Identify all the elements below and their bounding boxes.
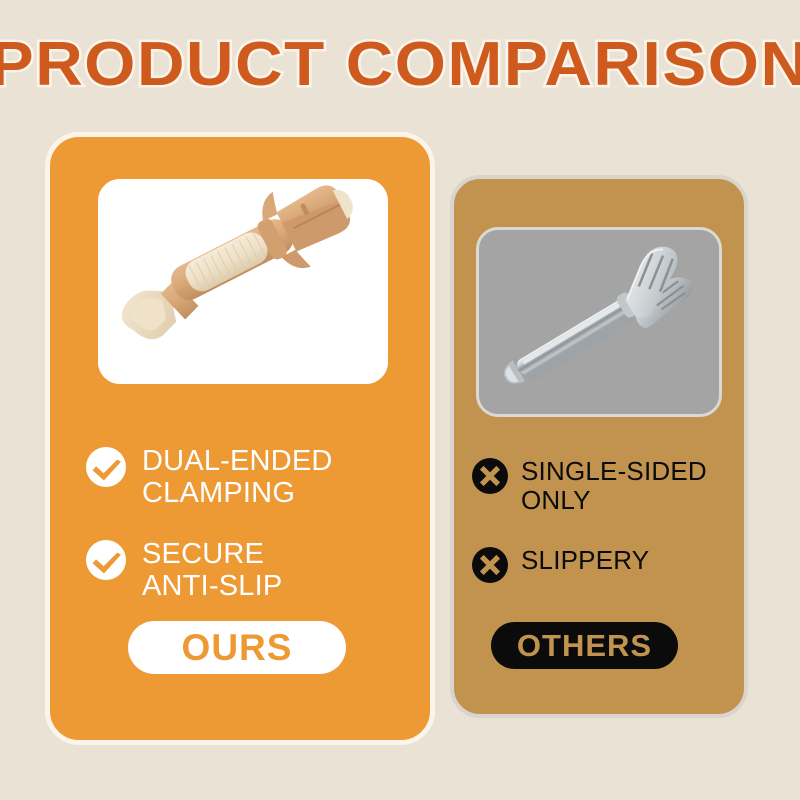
others-feature-label: SLIPPERY [521, 546, 649, 575]
ours-feature-label: SECURE ANTI-SLIP [142, 538, 282, 603]
cross-circle-icon [472, 547, 508, 583]
stainless-steel-slotted-serving-tongs-image [479, 230, 719, 414]
others-badge-label: OTHERS [517, 628, 652, 664]
ours-product-image-card [98, 179, 388, 384]
ours-feature-label: DUAL-ENDED CLAMPING [142, 445, 333, 510]
ours-feature-item: SECURE ANTI-SLIP [86, 538, 416, 603]
ours-feature-list: DUAL-ENDED CLAMPING SECURE ANTI-SLIP [86, 445, 416, 631]
others-feature-list: SINGLE-SIDED ONLY SLIPPERY [472, 457, 742, 613]
page-title: PRODUCT COMPARISON [0, 34, 800, 96]
page-header: PRODUCT COMPARISON [0, 26, 800, 104]
others-comparison-panel: SINGLE-SIDED ONLY SLIPPERY OTHERS [450, 175, 748, 718]
others-badge: OTHERS [491, 622, 678, 669]
cross-circle-icon [472, 458, 508, 494]
others-feature-item: SINGLE-SIDED ONLY [472, 457, 742, 516]
others-product-image-card [476, 227, 722, 417]
check-circle-icon [86, 540, 126, 580]
ours-feature-item: DUAL-ENDED CLAMPING [86, 445, 416, 510]
tan-plastic-dual-ended-clamping-tong-image [98, 179, 388, 384]
others-feature-label: SINGLE-SIDED ONLY [521, 457, 707, 516]
ours-badge: OURS [128, 621, 346, 674]
ours-comparison-panel: DUAL-ENDED CLAMPING SECURE ANTI-SLIP OUR… [45, 132, 435, 745]
check-circle-icon [86, 447, 126, 487]
ours-badge-label: OURS [182, 627, 293, 669]
others-feature-item: SLIPPERY [472, 546, 742, 583]
